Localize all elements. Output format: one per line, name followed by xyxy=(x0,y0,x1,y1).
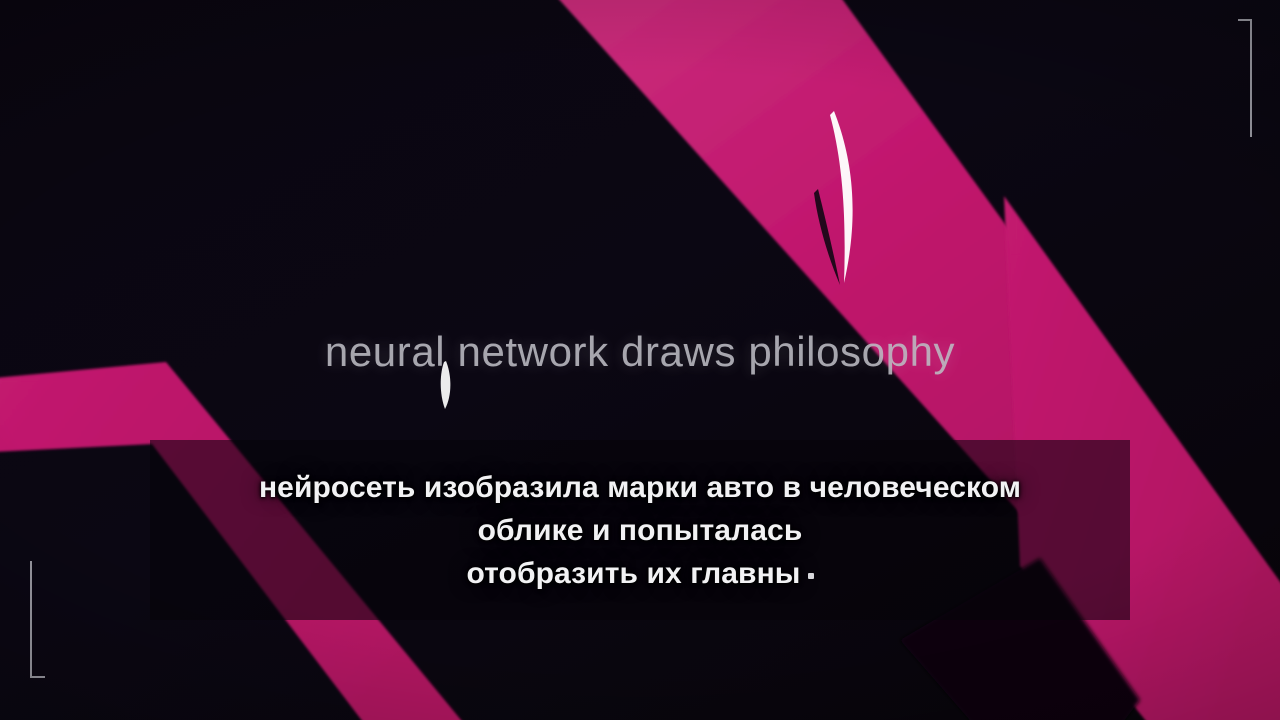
abstract-background-artwork xyxy=(0,0,1280,720)
video-frame: neural network draws philosophy нейросет… xyxy=(0,0,1280,720)
text-scrim xyxy=(150,440,1130,620)
